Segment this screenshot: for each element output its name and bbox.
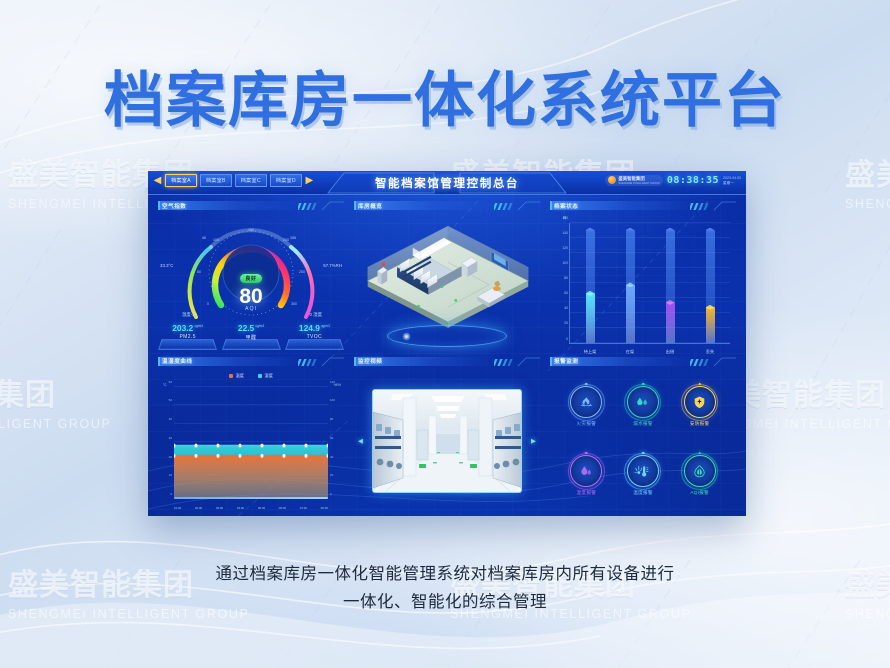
th-x-tick: 07:00 — [300, 506, 307, 510]
tab-next-arrow[interactable]: ▶ — [305, 174, 314, 187]
video-feed[interactable] — [372, 389, 522, 493]
legend-item-humidity[interactable]: 湿度 — [258, 373, 273, 379]
panel-title-video: 监控视频 — [358, 357, 382, 365]
bar-chart-x-labels: 待上架在架出借丢失 — [570, 349, 730, 355]
legend-item-temperature[interactable]: 温度 — [229, 373, 244, 379]
bar-chart-gridline: 120 — [570, 252, 730, 253]
th-curve-chart: 温度湿度 °C %RH 0010202040306040805010060120… — [158, 371, 344, 513]
archive-corridor-photo — [373, 390, 522, 493]
svg-text:40: 40 — [202, 236, 206, 240]
panel-title-warehouse: 库房概览 — [358, 202, 382, 210]
alarm-button-thermometer[interactable] — [627, 455, 659, 487]
metric-label-tvoc: TVOC — [285, 334, 344, 340]
panel-decoration-icon — [690, 357, 736, 368]
panel-decoration-icon — [494, 201, 540, 212]
panel-decoration-icon — [298, 357, 344, 368]
alarm-indicator-dot — [698, 383, 701, 386]
date-value: 2023.04.03 — [723, 176, 741, 181]
th-data-point[interactable] — [283, 443, 286, 447]
bar-chart-x-axis — [569, 343, 730, 344]
alarm-icon-grid: 火灾报警漏水报警安防报警湿度报警温度报警AQI报警 — [550, 371, 736, 513]
metric-card-pm25[interactable]: 203.2ug/m3 PM2.5 — [158, 318, 217, 349]
watermark-right-top: 盛美智能集团 SHENGMEI INTELLIGENT GROUP — [845, 150, 890, 211]
th-y-tick-left: 0 — [170, 492, 172, 496]
th-x-tick: 04:00 — [237, 506, 244, 510]
room-tab-bar: ◀ 档案室A 档案室B 档案室C 档案室D ▶ — [153, 174, 314, 187]
warehouse-glow-point — [402, 332, 411, 341]
alarm-ring-outer — [681, 453, 718, 490]
bar-chart-gridline: 140 — [570, 237, 730, 238]
bar-chart-y-tick: 140 — [562, 231, 568, 235]
th-y-tick-right: 100 — [330, 398, 335, 402]
alarm-ring-outer — [624, 384, 661, 421]
th-data-point[interactable] — [239, 453, 242, 457]
aqi-gauge-area: 150 200 250 300 100 50 0 40 100 — [158, 215, 344, 357]
th-curve-plot-area: 0010202040306040805010060120 — [174, 387, 328, 499]
tab-archive-room-d[interactable]: 档案室D — [270, 174, 302, 187]
bar-chart-y-tick: 120 — [562, 246, 568, 250]
video-next-arrow[interactable]: ► — [529, 437, 538, 446]
th-curve-x-axis — [174, 497, 328, 499]
logo-name-en: SHENGMEI INTELLIGENT GROUP — [618, 182, 659, 185]
bar-chart-bars — [570, 223, 730, 343]
th-data-point[interactable] — [217, 443, 220, 447]
panel-body-warehouse — [354, 215, 540, 357]
legend-swatch — [229, 374, 233, 378]
alarm-ring-outer — [624, 453, 661, 490]
bar-fill — [666, 302, 675, 342]
metric-value-pm25: 203.2ug/m3 — [158, 321, 217, 333]
th-y-tick-left: 20 — [169, 455, 172, 459]
legend-label: 温度 — [236, 373, 244, 379]
th-y-tick-left: 30 — [169, 436, 172, 440]
aqi-unit-label: AQI — [216, 306, 286, 312]
th-data-point[interactable] — [283, 453, 286, 457]
bar-chart-gridline: 0 — [570, 342, 730, 343]
weekday-value: 星期一 — [723, 181, 741, 186]
bar-fill — [626, 285, 635, 343]
panel-decoration-icon — [298, 201, 344, 212]
metric-label-pm25: PM2.5 — [158, 334, 217, 340]
th-y-tick-left: 60 — [169, 380, 172, 384]
panel-title-th-curve: 温湿度曲线 — [162, 357, 192, 365]
svg-text:300: 300 — [291, 302, 297, 306]
panel-header-warehouse: 库房概览 — [354, 201, 540, 213]
alarm-cell-humidity: 湿度报警 — [570, 455, 602, 496]
bar-chart-category-label: 在架 — [614, 349, 646, 355]
alarm-label: 安防报警 — [684, 421, 716, 427]
bar-chart-category-label: 出借 — [654, 349, 686, 355]
company-logo: 盛美智能集团 SHENGMEI INTELLIGENT GROUP — [605, 175, 662, 186]
metric-card-tvoc[interactable]: 124.9ug/m3 TVOC — [285, 318, 344, 349]
bar-chart-gridline: 60 — [570, 297, 730, 298]
th-data-point[interactable] — [261, 453, 264, 457]
svg-text:100: 100 — [213, 238, 219, 242]
panel-air-quality: 空气指数 — [153, 201, 349, 357]
watermark-left-middle: 盛美智能集团 SHENGMEI INTELLIGENT GROUP — [0, 370, 111, 431]
aqi-status-badge: 良好 — [240, 274, 261, 283]
metric-value-formaldehyde: 22.5ug/m3 — [221, 321, 280, 333]
panel-body-video: ◄ — [354, 371, 540, 513]
topbar-right-cluster: 盛美智能集团 SHENGMEI INTELLIGENT GROUP 08:38:… — [605, 175, 741, 186]
caption-line-1: 通过档案库房一体化智能管理系统对档案库房内所有设备进行 — [0, 560, 890, 588]
panel-header-archive-status: 档案状态 — [550, 201, 736, 213]
bar-chart-plot-area: 020406080100120140160 — [570, 223, 730, 343]
dashboard-screenshot: ◀ 档案室A 档案室B 档案室C 档案室D ▶ 智能档案馆管理控制总台 盛美智能… — [148, 171, 746, 516]
th-curve-svg — [174, 387, 328, 499]
panel-body-archive-status: 件 020406080100120140160 待上架在架出借丢失 — [550, 215, 736, 357]
bar-chart-y-tick: 0 — [566, 337, 568, 341]
th-curve-x-labels: 01:0002:0003:0004:0005:0006:0007:0008:00 — [174, 506, 328, 510]
legend-label: 湿度 — [265, 373, 273, 379]
alarm-indicator-dot — [642, 452, 645, 455]
svg-text:250: 250 — [299, 270, 305, 274]
panel-title-air-quality: 空气指数 — [162, 202, 186, 210]
alarm-indicator-dot — [642, 383, 645, 386]
caption-line-2: 一体化、智能化的综合管理 — [0, 588, 890, 616]
warehouse-3d-model[interactable] — [354, 215, 540, 357]
bar-chart-y-tick: 80 — [564, 276, 568, 280]
page-caption: 通过档案库房一体化智能管理系统对档案库房内所有设备进行 一体化、智能化的综合管理 — [0, 560, 890, 616]
bar-slot[interactable] — [694, 223, 726, 343]
bar-chart-y-tick: 20 — [564, 321, 568, 325]
alarm-button-leaf[interactable] — [684, 455, 716, 487]
tab-archive-room-a[interactable]: 档案室A — [165, 174, 197, 187]
panel-body-th-curve: 温度湿度 °C %RH 0010202040306040805010060120… — [158, 371, 344, 513]
page-title: 档案库房一体化系统平台 — [0, 52, 890, 139]
svg-text:0: 0 — [207, 302, 209, 306]
bar-fill — [706, 307, 715, 342]
alarm-label: 湿度报警 — [570, 490, 602, 496]
th-area-温度 — [174, 455, 328, 498]
alarm-cell-fire: 火灾报警 — [570, 386, 602, 427]
alarm-label: 火灾报警 — [570, 421, 602, 427]
panel-title-archive-status: 档案状态 — [554, 202, 578, 210]
th-data-point[interactable] — [217, 453, 220, 457]
th-curve-left-unit: °C — [163, 383, 167, 387]
panel-title-alarm: 报警监测 — [554, 357, 578, 365]
alarm-ring-outer — [568, 384, 605, 421]
panel-warehouse-overview: 库房概览 — [349, 201, 545, 357]
th-data-point[interactable] — [195, 443, 198, 447]
alarm-cell-thermometer: 温度报警 — [627, 455, 659, 496]
th-x-tick: 01:00 — [174, 506, 181, 510]
alarm-label: 漏水报警 — [627, 421, 659, 427]
th-data-point[interactable] — [239, 443, 242, 447]
th-y-tick-left: 10 — [169, 473, 172, 477]
temperature-reading: 33.3°C — [160, 263, 173, 268]
bar-chart-gridline: 20 — [570, 327, 730, 328]
date-display: 2023.04.03 星期一 — [723, 176, 741, 186]
th-y-tick-left: 40 — [169, 417, 172, 421]
alarm-button-fire[interactable] — [570, 386, 602, 418]
alarm-indicator-dot — [585, 452, 588, 455]
humidity-reading: 57.7%RH — [323, 263, 342, 268]
svg-text:100: 100 — [290, 236, 296, 240]
panel-temp-humidity-curve: 温湿度曲线 温度湿度 °C %RH 0010202040306040 — [153, 357, 349, 513]
alarm-cell-shield: 安防报警 — [684, 386, 716, 427]
th-data-point[interactable] — [305, 453, 308, 457]
alarm-indicator-dot — [585, 383, 588, 386]
alarm-ring-outer — [681, 384, 718, 421]
metric-card-plate — [158, 338, 216, 349]
clock-display: 08:38:35 — [667, 175, 719, 186]
th-y-tick-right: 60 — [330, 436, 333, 440]
th-y-tick-right: 80 — [330, 417, 333, 421]
air-metric-cards: 203.2ug/m3 PM2.5 22.5ug/m3 甲醛 124.9ug/m3… — [158, 318, 344, 349]
th-y-tick-right: 0 — [330, 492, 332, 496]
tab-archive-room-c[interactable]: 档案室C — [235, 174, 267, 187]
video-prev-arrow[interactable]: ◄ — [356, 437, 365, 446]
th-x-tick: 03:00 — [216, 506, 223, 510]
legend-swatch — [258, 374, 262, 378]
svg-text:50: 50 — [197, 270, 201, 274]
metric-card-plate — [285, 338, 343, 349]
alarm-indicator-dot — [698, 452, 701, 455]
alarm-cell-leaf: AQI报警 — [684, 455, 716, 496]
th-x-tick: 06:00 — [279, 506, 286, 510]
th-data-point[interactable] — [195, 453, 198, 457]
th-y-tick-right: 20 — [330, 473, 333, 477]
bar-chart-y-tick: 40 — [564, 306, 568, 310]
bar-chart-gridline: 40 — [570, 312, 730, 313]
warehouse-isometric-illustration — [354, 215, 540, 333]
alarm-label: AQI报警 — [684, 490, 716, 496]
panel-body-alarm: 火灾报警漏水报警安防报警湿度报警温度报警AQI报警 — [550, 371, 736, 513]
panel-decoration-icon — [494, 357, 540, 368]
bar-chart-y-tick: 100 — [562, 261, 568, 265]
metric-card-formaldehyde[interactable]: 22.5ug/m3 甲醛 — [221, 318, 280, 349]
th-y-tick-right: 40 — [330, 455, 333, 459]
th-x-tick: 05:00 — [258, 506, 265, 510]
logo-mark-icon — [608, 176, 616, 184]
archive-status-bar-chart: 件 020406080100120140160 待上架在架出借丢失 — [550, 215, 736, 357]
bar-chart-y-tick: 60 — [564, 291, 568, 295]
th-x-tick: 08:00 — [321, 506, 328, 510]
bar-slot[interactable] — [574, 223, 606, 343]
bar-chart-gridline: 160 — [570, 222, 730, 223]
panel-alarm-monitor: 报警监测 火灾报警漏水报警安防报警湿度报警温度报警AQI报警 — [545, 357, 741, 513]
bar-slot[interactable] — [614, 223, 646, 343]
bar-chart-category-label: 丢失 — [694, 349, 726, 355]
alarm-label: 温度报警 — [627, 490, 659, 496]
metric-label-formaldehyde: 甲醛 — [221, 334, 280, 341]
svg-text:200: 200 — [283, 238, 289, 242]
panel-video-monitor: 监控视频 ◄ — [349, 357, 545, 513]
dashboard-topbar: ◀ 档案室A 档案室B 档案室C 档案室D ▶ 智能档案馆管理控制总台 盛美智能… — [148, 171, 746, 195]
bar-chart-category-label: 待上架 — [574, 349, 606, 355]
th-curve-legend: 温度湿度 — [158, 373, 344, 379]
tab-prev-arrow[interactable]: ◀ — [153, 174, 162, 187]
panel-archive-status: 档案状态 件 — [545, 201, 741, 357]
th-y-tick-right: 120 — [330, 380, 335, 384]
panel-decoration-icon — [690, 201, 736, 212]
aqi-readout: 良好 80 AQI — [216, 267, 286, 312]
th-x-tick: 02:00 — [195, 506, 202, 510]
panel-header-th-curve: 温湿度曲线 — [158, 357, 344, 369]
alarm-ring-outer — [568, 453, 605, 490]
bar-fill — [586, 293, 595, 342]
panel-header-video: 监控视频 — [354, 357, 540, 369]
bar-chart-y-tick: 160 — [562, 216, 568, 220]
panel-header-air-quality: 空气指数 — [158, 201, 344, 213]
bar-chart-gridline: 80 — [570, 282, 730, 283]
alarm-cell-water-drop: 漏水报警 — [627, 386, 659, 427]
bar-chart-gridline: 100 — [570, 267, 730, 268]
th-data-point[interactable] — [261, 443, 264, 447]
tab-archive-room-b[interactable]: 档案室B — [200, 174, 232, 187]
th-y-tick-left: 50 — [169, 398, 172, 402]
svg-text:150: 150 — [248, 228, 254, 232]
aqi-value: 80 — [216, 285, 286, 308]
bar-slot[interactable] — [654, 223, 686, 343]
panel-body-air-quality: 150 200 250 300 100 50 0 40 100 — [158, 215, 344, 357]
alarm-button-humidity[interactable] — [570, 455, 602, 487]
dashboard-panel-grid: 空气指数 — [148, 195, 746, 516]
metric-value-tvoc: 124.9ug/m3 — [285, 321, 344, 333]
th-data-point[interactable] — [305, 443, 308, 447]
alarm-button-water-drop[interactable] — [627, 386, 659, 418]
video-viewer: ◄ — [354, 371, 540, 513]
panel-header-alarm: 报警监测 — [550, 357, 736, 369]
alarm-button-shield[interactable] — [684, 386, 716, 418]
